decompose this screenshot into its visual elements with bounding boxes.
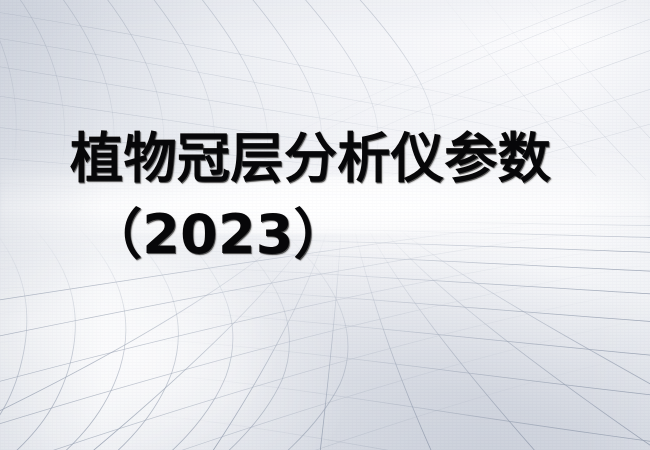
title-line-year: （2023） (88, 208, 348, 262)
title-line-primary: 植物冠层分析仪参数 (70, 132, 551, 186)
title-banner: 植物冠层分析仪参数 （2023） (0, 0, 650, 450)
